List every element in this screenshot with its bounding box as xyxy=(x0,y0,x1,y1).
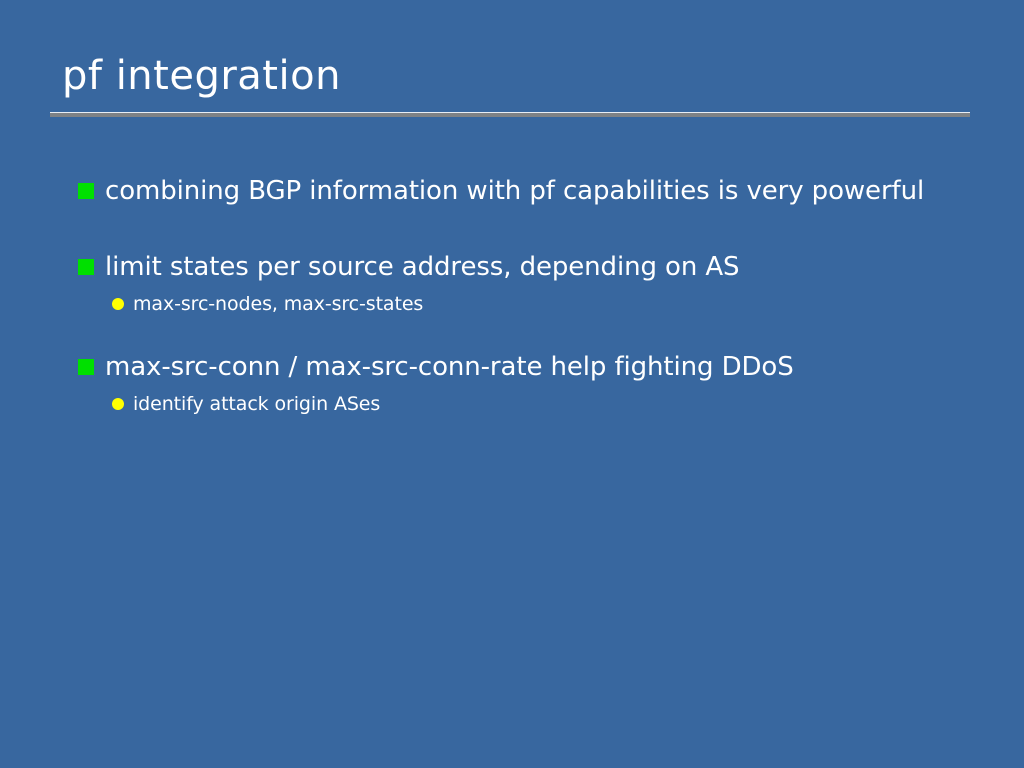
bullet-group: max-src-conn / max-src-conn-rate help fi… xyxy=(78,348,978,418)
bullet-text: limit states per source address, dependi… xyxy=(105,248,739,286)
presentation-slide: pf integration combining BGP information… xyxy=(0,0,1024,768)
list-item: max-src-conn / max-src-conn-rate help fi… xyxy=(78,348,978,386)
list-item: combining BGP information with pf capabi… xyxy=(78,172,978,210)
bullet-text: combining BGP information with pf capabi… xyxy=(105,172,924,210)
title-underline-divider xyxy=(50,112,970,117)
title-block: pf integration xyxy=(50,48,970,117)
sub-bullet-text: max-src-nodes, max-src-states xyxy=(133,290,423,318)
slide-body-content: combining BGP information with pf capabi… xyxy=(78,172,978,418)
sub-list-item: max-src-nodes, max-src-states xyxy=(112,290,978,318)
square-bullet-icon xyxy=(78,183,94,199)
sub-bullet-text: identify attack origin ASes xyxy=(133,390,380,418)
sub-list-item: identify attack origin ASes xyxy=(112,390,978,418)
dot-bullet-icon xyxy=(112,298,124,310)
list-item: limit states per source address, dependi… xyxy=(78,248,978,286)
square-bullet-icon xyxy=(78,359,94,375)
page-title: pf integration xyxy=(50,48,970,104)
dot-bullet-icon xyxy=(112,398,124,410)
bullet-text: max-src-conn / max-src-conn-rate help fi… xyxy=(105,348,794,386)
bullet-group: combining BGP information with pf capabi… xyxy=(78,172,978,210)
square-bullet-icon xyxy=(78,259,94,275)
bullet-group: limit states per source address, dependi… xyxy=(78,248,978,318)
